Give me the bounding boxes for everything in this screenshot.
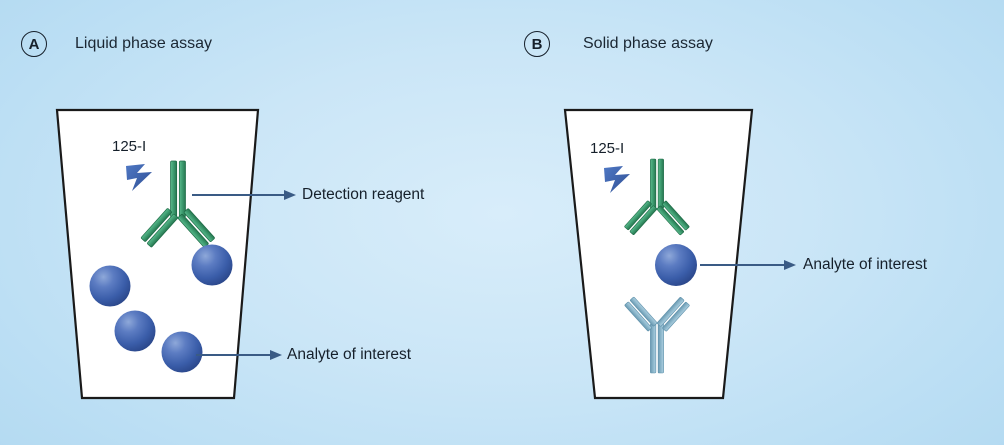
panel-title-a: Liquid phase assay (75, 35, 212, 53)
panel-badge-a: A (21, 31, 47, 57)
analyte-sphere (115, 311, 156, 352)
panel-badge-b: B (524, 31, 550, 57)
analyte-sphere (192, 245, 233, 286)
analyte-sphere (655, 244, 697, 286)
analyte-sphere (90, 266, 131, 307)
figure-canvas: A Liquid phase assay B Solid phase assay… (0, 0, 1004, 445)
analyte-sphere (162, 332, 203, 373)
callout-label-detection-reagent: Detection reagent (302, 186, 424, 204)
panel-badge-b-letter: B (532, 37, 543, 52)
isotope-label-a: 125-I (112, 138, 146, 155)
panel-a-group (57, 110, 296, 398)
isotope-label-b: 125-I (590, 140, 624, 157)
diagram-layer (0, 0, 1004, 445)
callout-label-analyte-b: Analyte of interest (803, 256, 927, 274)
callout-label-analyte-a: Analyte of interest (287, 346, 411, 364)
panel-badge-a-letter: A (29, 37, 40, 52)
panel-title-b: Solid phase assay (583, 35, 713, 53)
